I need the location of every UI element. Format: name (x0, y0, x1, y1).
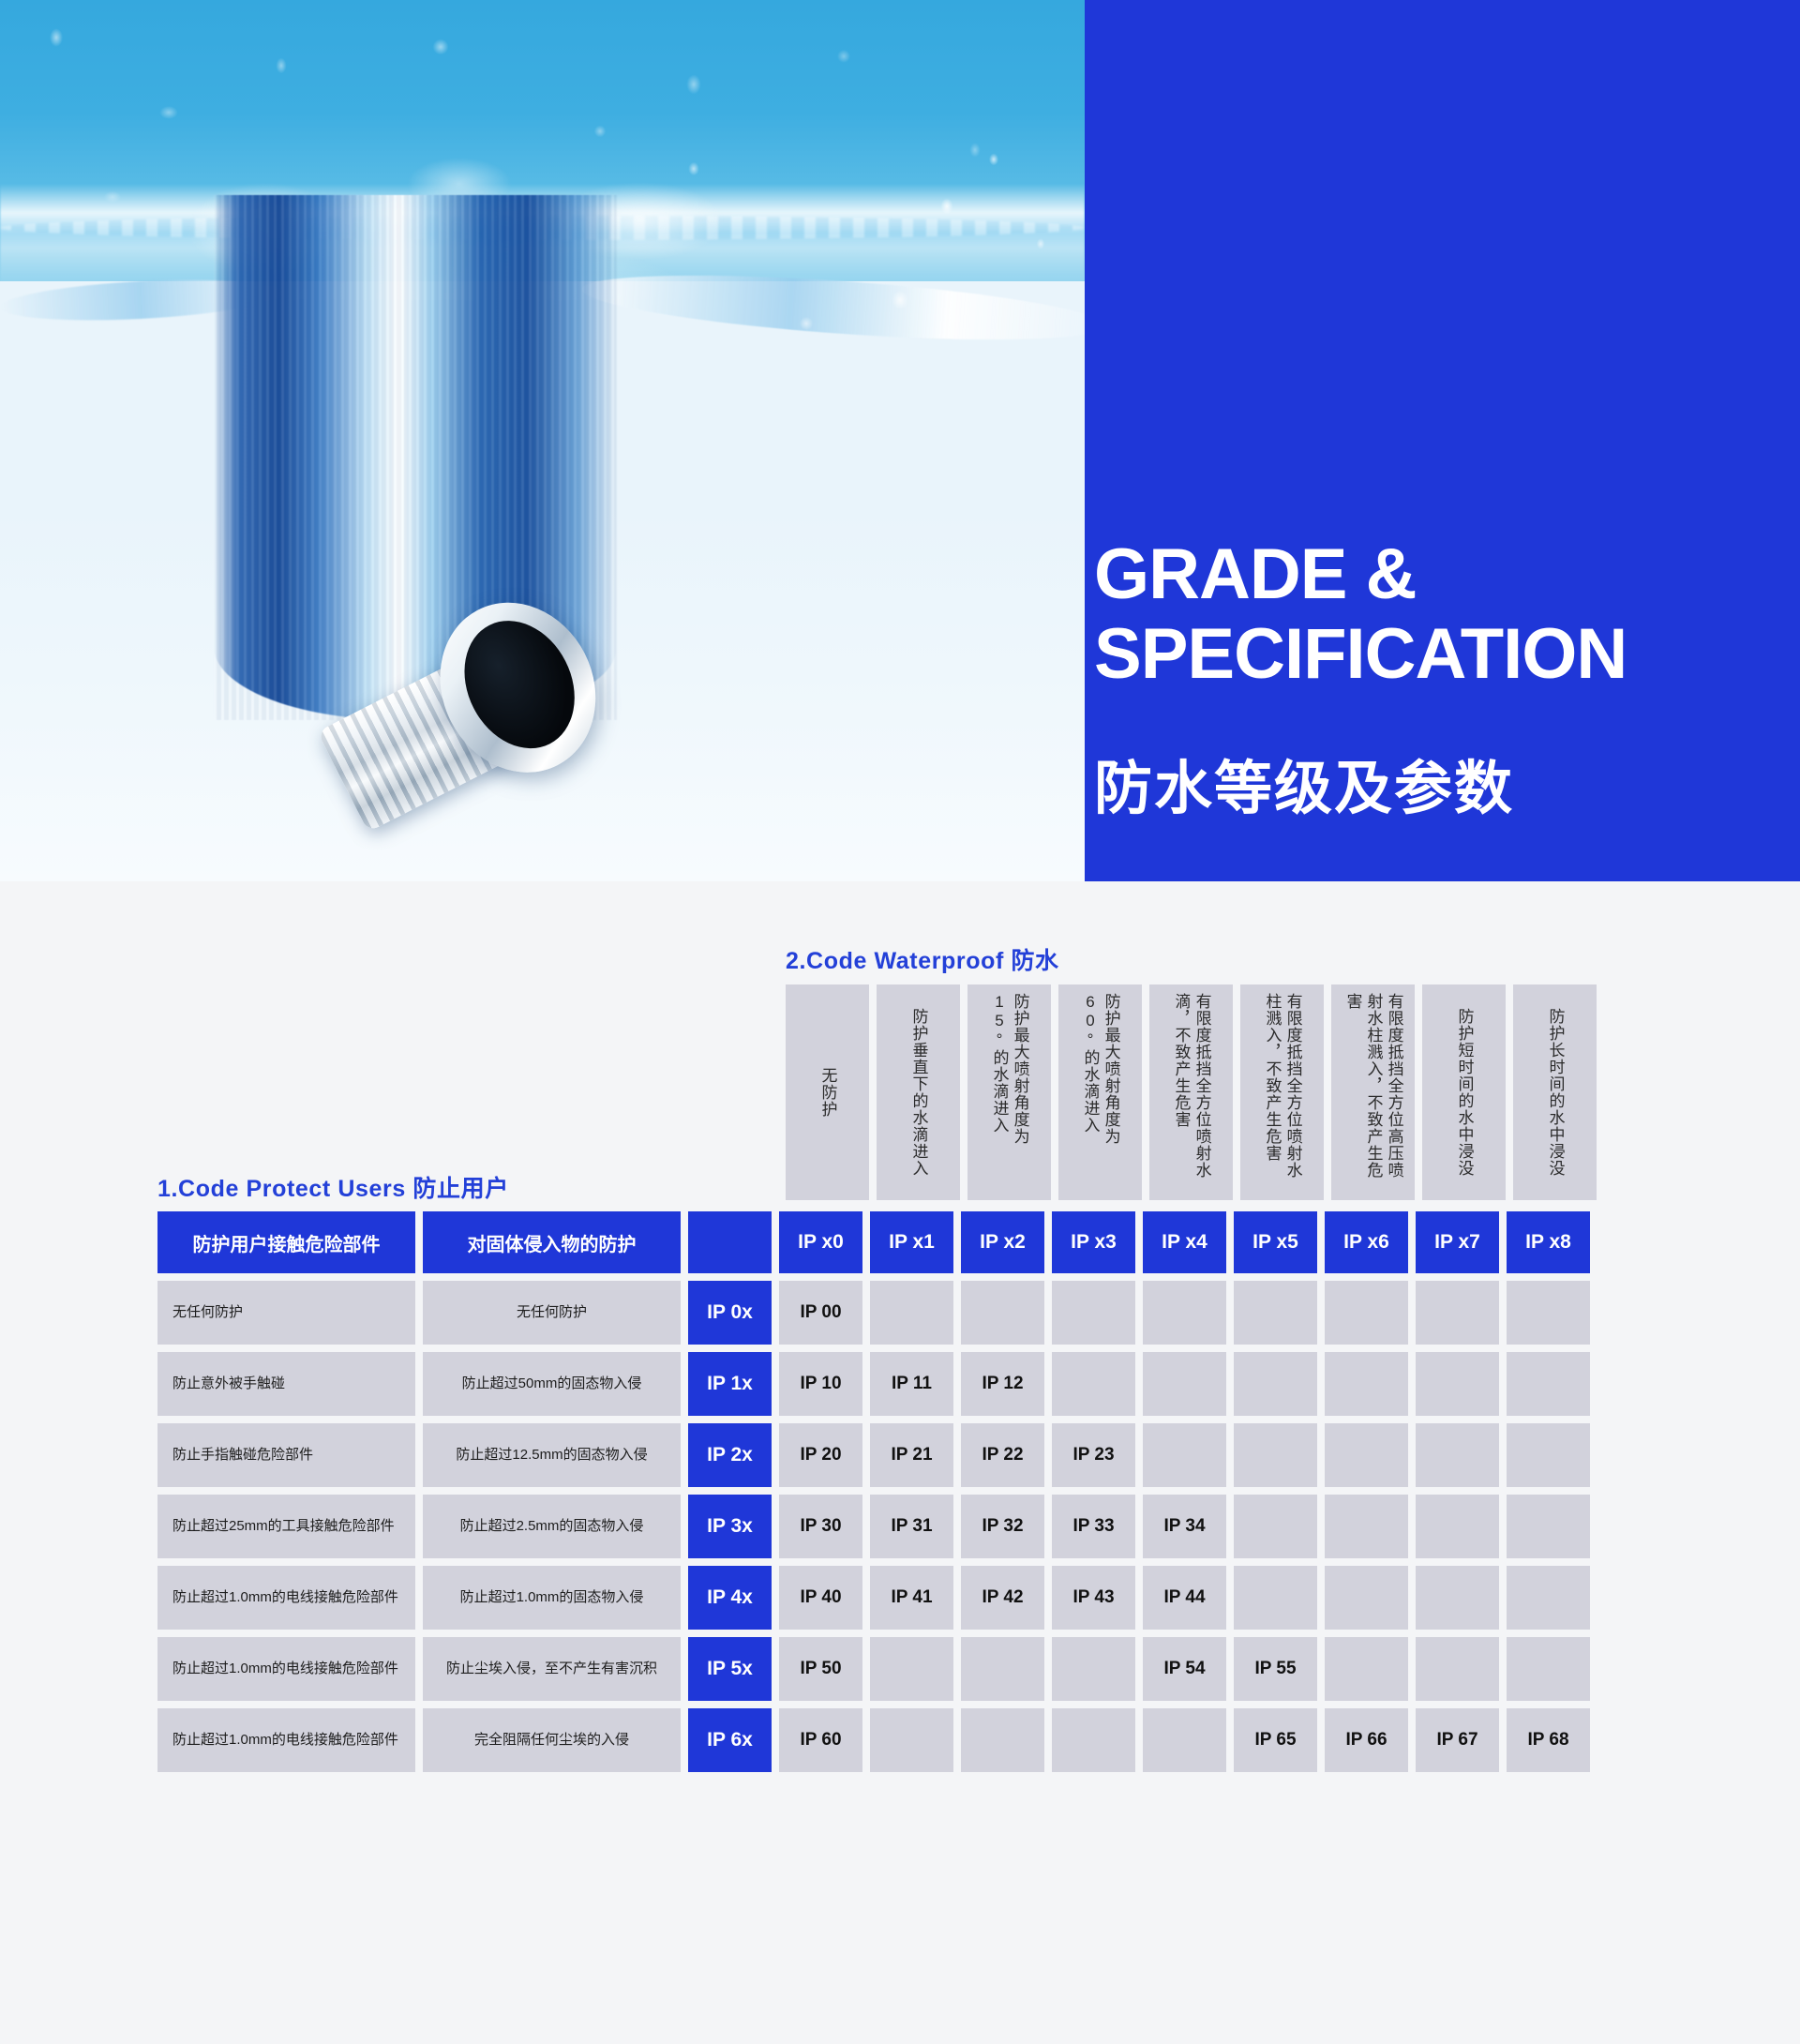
cell-empty (1416, 1352, 1499, 1416)
cell-ip-code: IP 30 (779, 1495, 862, 1558)
cell-empty (1234, 1281, 1317, 1345)
cell-protect-users: 防止超过25mm的工具接触危险部件 (157, 1495, 415, 1558)
header-code-corner (688, 1211, 772, 1273)
vertical-header-text: 防护垂直下的水滴进入 (907, 1008, 928, 1177)
cell-ip-code: IP 22 (961, 1423, 1044, 1487)
cell-empty (1416, 1423, 1499, 1487)
cell-ip-code: IP 40 (779, 1566, 862, 1630)
cell-empty (1234, 1352, 1317, 1416)
cell-solid-protection: 防止超过12.5mm的固态物入侵 (423, 1423, 681, 1487)
cell-empty (1325, 1423, 1408, 1487)
cell-ip-code: IP 33 (1052, 1495, 1135, 1558)
flying-droplets (0, 131, 1085, 431)
vertical-header-cell: 防护最大喷射角度为15°的水滴进入 (967, 984, 1051, 1200)
row-code-badge: IP 6x (688, 1708, 772, 1772)
cell-empty (1325, 1566, 1408, 1630)
vertical-header-text: 有限度抵挡全方位喷射水柱溅入，不致产生危害 (1261, 993, 1302, 1192)
ip-rating-table: 防护用户接触危险部件 对固体侵入物的防护 IP x0 IP x1 IP x2 I… (157, 1211, 1606, 1772)
table-row: 防止手指触碰危险部件防止超过12.5mm的固态物入侵IP 2xIP 20IP 2… (157, 1423, 1606, 1487)
cell-empty (961, 1637, 1044, 1701)
row-code-badge: IP 0x (688, 1281, 772, 1345)
vertical-header-cell: 防护垂直下的水滴进入 (877, 984, 960, 1200)
header-ip-x4: IP x4 (1143, 1211, 1226, 1273)
vertical-header-cell: 有限度抵挡全方位高压喷射水柱溅入，不致产生危害 (1331, 984, 1415, 1200)
cell-ip-code: IP 44 (1143, 1566, 1226, 1630)
header-ip-x6: IP x6 (1325, 1211, 1408, 1273)
table-row: 防止超过1.0mm的电线接触危险部件防止尘埃入侵，至不产生有害沉积IP 5xIP… (157, 1637, 1606, 1701)
cell-empty (1416, 1566, 1499, 1630)
page-subtitle: 防水等级及参数 (1094, 741, 1788, 825)
cell-empty (961, 1281, 1044, 1345)
cell-empty (1325, 1495, 1408, 1558)
vertical-header-text: 防护最大喷射角度为60°的水滴进入 (1079, 993, 1120, 1192)
vertical-header-cell: 有限度抵挡全方位喷射水滴，不致产生危害 (1149, 984, 1233, 1200)
cell-ip-code: IP 60 (779, 1708, 862, 1772)
row-code-badge: IP 4x (688, 1566, 772, 1630)
table-row: 防止意外被手触碰防止超过50mm的固态物入侵IP 1xIP 10IP 11IP … (157, 1352, 1606, 1416)
cell-empty (1052, 1708, 1135, 1772)
table-header-row: 防护用户接触危险部件 对固体侵入物的防护 IP x0 IP x1 IP x2 I… (157, 1211, 1606, 1273)
vertical-header-text: 无防护 (817, 1067, 837, 1118)
cell-ip-code: IP 67 (1416, 1708, 1499, 1772)
cell-empty (1143, 1281, 1226, 1345)
cell-ip-code: IP 21 (870, 1423, 953, 1487)
cell-empty (1052, 1637, 1135, 1701)
cell-empty (1416, 1281, 1499, 1345)
header-ip-x5: IP x5 (1234, 1211, 1317, 1273)
cell-empty (1416, 1637, 1499, 1701)
cell-empty (1507, 1566, 1590, 1630)
cell-ip-code: IP 66 (1325, 1708, 1408, 1772)
cell-ip-code: IP 43 (1052, 1566, 1135, 1630)
table-row: 无任何防护无任何防护IP 0xIP 00 (157, 1281, 1606, 1345)
cell-solid-protection: 完全阻隔任何尘埃的入侵 (423, 1708, 681, 1772)
cell-ip-code: IP 12 (961, 1352, 1044, 1416)
cell-ip-code: IP 41 (870, 1566, 953, 1630)
cell-empty (1052, 1281, 1135, 1345)
cell-ip-code: IP 32 (961, 1495, 1044, 1558)
cell-empty (1325, 1281, 1408, 1345)
cell-empty (870, 1708, 953, 1772)
cell-solid-protection: 无任何防护 (423, 1281, 681, 1345)
cell-empty (1325, 1352, 1408, 1416)
cell-ip-code: IP 23 (1052, 1423, 1135, 1487)
vertical-header-cell: 防护长时间的水中浸没 (1513, 984, 1597, 1200)
cell-empty (1507, 1637, 1590, 1701)
cell-empty (870, 1637, 953, 1701)
header-ip-x2: IP x2 (961, 1211, 1044, 1273)
row-code-badge: IP 5x (688, 1637, 772, 1701)
header-ip-x7: IP x7 (1416, 1211, 1499, 1273)
cell-empty (1507, 1495, 1590, 1558)
cell-empty (1143, 1352, 1226, 1416)
cell-ip-code: IP 31 (870, 1495, 953, 1558)
waterproof-vertical-headers: 无防护 防护垂直下的水滴进入 防护最大喷射角度为15°的水滴进入 防护最大喷射角… (786, 984, 1606, 1200)
cell-empty (1143, 1423, 1226, 1487)
cell-protect-users: 无任何防护 (157, 1281, 415, 1345)
section-label-protect-users: 1.Code Protect Users 防止用户 (157, 1170, 509, 1204)
cell-solid-protection: 防止超过50mm的固态物入侵 (423, 1352, 681, 1416)
cell-empty (1234, 1566, 1317, 1630)
table-row: 防止超过1.0mm的电线接触危险部件完全阻隔任何尘埃的入侵IP 6xIP 60I… (157, 1708, 1606, 1772)
cell-protect-users: 防止超过1.0mm的电线接触危险部件 (157, 1637, 415, 1701)
header-ip-x0: IP x0 (779, 1211, 862, 1273)
vertical-header-text: 有限度抵挡全方位喷射水滴，不致产生危害 (1170, 993, 1211, 1192)
cell-ip-code: IP 55 (1234, 1637, 1317, 1701)
cell-empty (1416, 1495, 1499, 1558)
cell-ip-code: IP 68 (1507, 1708, 1590, 1772)
cell-protect-users: 防止手指触碰危险部件 (157, 1423, 415, 1487)
table-row: 防止超过25mm的工具接触危险部件防止超过2.5mm的固态物入侵IP 3xIP … (157, 1495, 1606, 1558)
cell-protect-users: 防止超过1.0mm的电线接触危险部件 (157, 1708, 415, 1772)
cell-empty (1507, 1281, 1590, 1345)
vertical-header-text: 防护长时间的水中浸没 (1544, 1008, 1565, 1177)
vertical-header-cell: 防护最大喷射角度为60°的水滴进入 (1058, 984, 1142, 1200)
row-code-badge: IP 3x (688, 1495, 772, 1558)
cell-empty (1325, 1637, 1408, 1701)
row-code-badge: IP 1x (688, 1352, 772, 1416)
cell-ip-code: IP 10 (779, 1352, 862, 1416)
cell-solid-protection: 防止超过1.0mm的固态物入侵 (423, 1566, 681, 1630)
hero-banner: GRADE & SPECIFICATION 防水等级及参数 (0, 0, 1800, 881)
header-ip-x8: IP x8 (1507, 1211, 1590, 1273)
header-solid-protection: 对固体侵入物的防护 (423, 1211, 681, 1273)
cell-empty (1507, 1423, 1590, 1487)
cell-ip-code: IP 20 (779, 1423, 862, 1487)
cell-empty (961, 1708, 1044, 1772)
cell-protect-users: 防止意外被手触碰 (157, 1352, 415, 1416)
vertical-header-text: 有限度抵挡全方位高压喷射水柱溅入，不致产生危害 (1342, 993, 1403, 1192)
cell-empty (1234, 1495, 1317, 1558)
vertical-header-cell: 防护短时间的水中浸没 (1422, 984, 1506, 1200)
table-row: 防止超过1.0mm的电线接触危险部件防止超过1.0mm的固态物入侵IP 4xIP… (157, 1566, 1606, 1630)
page-title: GRADE & SPECIFICATION (1094, 534, 1788, 694)
cell-empty (1143, 1708, 1226, 1772)
header-protect-users: 防护用户接触危险部件 (157, 1211, 415, 1273)
cell-protect-users: 防止超过1.0mm的电线接触危险部件 (157, 1566, 415, 1630)
cell-ip-code: IP 54 (1143, 1637, 1226, 1701)
cell-solid-protection: 防止尘埃入侵，至不产生有害沉积 (423, 1637, 681, 1701)
cell-empty (1052, 1352, 1135, 1416)
vertical-header-text: 防护短时间的水中浸没 (1453, 1008, 1474, 1177)
cell-ip-code: IP 00 (779, 1281, 862, 1345)
cell-empty (870, 1281, 953, 1345)
cell-ip-code: IP 65 (1234, 1708, 1317, 1772)
header-ip-x3: IP x3 (1052, 1211, 1135, 1273)
vertical-header-cell: 无防护 (786, 984, 869, 1200)
section-label-waterproof: 2.Code Waterproof 防水 (786, 942, 1059, 976)
water-splash-photo (0, 0, 1085, 881)
cell-ip-code: IP 50 (779, 1637, 862, 1701)
vertical-header-text: 防护最大喷射角度为15°的水滴进入 (988, 993, 1029, 1192)
header-ip-x1: IP x1 (870, 1211, 953, 1273)
cell-ip-code: IP 34 (1143, 1495, 1226, 1558)
cell-empty (1507, 1352, 1590, 1416)
cell-solid-protection: 防止超过2.5mm的固态物入侵 (423, 1495, 681, 1558)
cell-ip-code: IP 11 (870, 1352, 953, 1416)
cell-empty (1234, 1423, 1317, 1487)
cell-ip-code: IP 42 (961, 1566, 1044, 1630)
vertical-header-cell: 有限度抵挡全方位喷射水柱溅入，不致产生危害 (1240, 984, 1324, 1200)
row-code-badge: IP 2x (688, 1423, 772, 1487)
